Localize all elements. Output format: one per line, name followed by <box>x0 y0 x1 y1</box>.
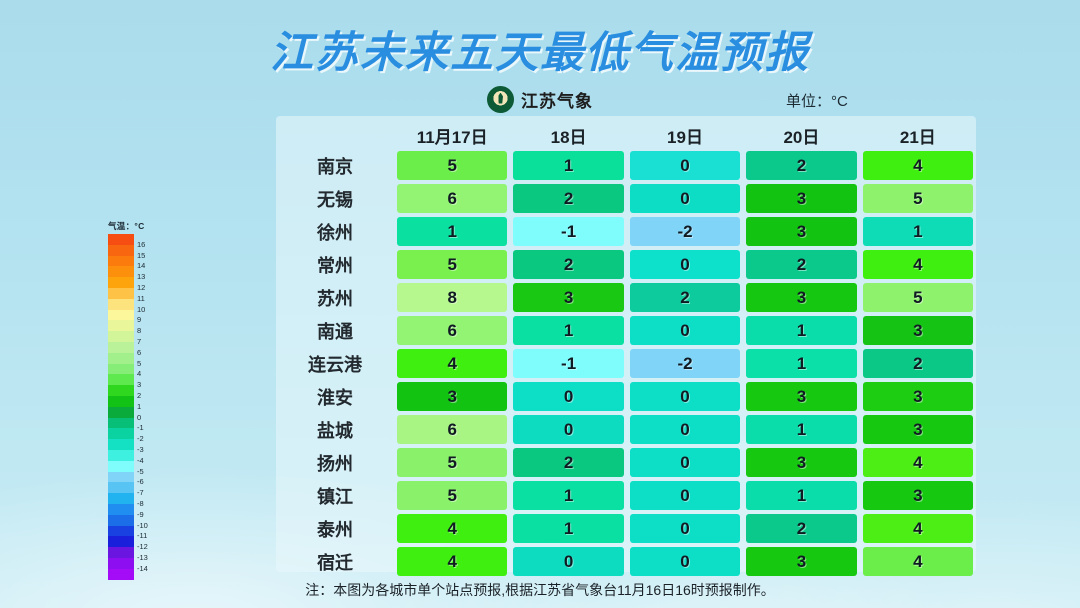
temperature-cell: 0 <box>513 547 623 576</box>
city-label: 徐州 <box>276 219 394 245</box>
temperature-cell: 3 <box>746 448 856 477</box>
legend-swatch <box>108 331 134 342</box>
temperature-cell: 4 <box>863 514 973 543</box>
temperature-cell: -2 <box>630 217 740 246</box>
temperature-cell: 1 <box>513 151 623 180</box>
temperature-cell: 3 <box>863 316 973 345</box>
legend-swatch <box>108 558 134 569</box>
legend-tick-label: 14 <box>137 262 145 270</box>
table-row: 扬州52034 <box>276 447 976 478</box>
legend-swatch <box>108 439 134 450</box>
table-row: 泰州41024 <box>276 513 976 544</box>
temperature-cell: 1 <box>746 349 856 378</box>
page-title: 江苏未来五天最低气温预报 <box>0 18 1080 80</box>
legend-tick-label: 8 <box>137 327 141 335</box>
temperature-cell: 5 <box>397 481 507 510</box>
temperature-cell: 5 <box>397 250 507 279</box>
temperature-cell: 0 <box>630 514 740 543</box>
legend-swatch <box>108 526 134 537</box>
legend-tick-label: -5 <box>137 468 144 476</box>
date-header-2: 19日 <box>627 123 743 148</box>
table-row: 宿迁40034 <box>276 546 976 577</box>
legend-swatch <box>108 493 134 504</box>
temperature-cell: -2 <box>630 349 740 378</box>
table-row: 盐城60013 <box>276 414 976 445</box>
temperature-cell: 0 <box>630 382 740 411</box>
date-header-0: 11月17日 <box>394 123 510 148</box>
legend-swatch <box>108 353 134 364</box>
temperature-cell: 3 <box>746 382 856 411</box>
jiangsu-meteorology-emblem-icon <box>487 86 514 113</box>
temperature-cell: 6 <box>397 415 507 444</box>
temperature-cell: 0 <box>630 415 740 444</box>
temperature-cell: 0 <box>513 382 623 411</box>
legend-tick-label: 5 <box>137 360 141 368</box>
legend-tick-label: -9 <box>137 511 144 519</box>
date-header-1: 18日 <box>510 123 626 148</box>
temperature-cell: 3 <box>513 283 623 312</box>
city-label: 镇江 <box>276 483 394 509</box>
temperature-cell: 1 <box>863 217 973 246</box>
temperature-cell: 2 <box>746 250 856 279</box>
temperature-cell: 5 <box>397 448 507 477</box>
table-header-row: 11月17日 18日 19日 20日 21日 <box>276 121 976 149</box>
table-row: 淮安30033 <box>276 381 976 412</box>
legend-swatch <box>108 256 134 267</box>
table-row: 镇江51013 <box>276 480 976 511</box>
legend-swatch <box>108 320 134 331</box>
legend-swatch <box>108 277 134 288</box>
legend-tick-label: 9 <box>137 316 141 324</box>
temperature-cell: 0 <box>630 547 740 576</box>
temperature-cell: 4 <box>863 250 973 279</box>
legend-tick-label: 16 <box>137 241 145 249</box>
brand-name: 江苏气象 <box>521 87 593 112</box>
legend-swatch <box>108 418 134 429</box>
temperature-cell: 2 <box>513 184 623 213</box>
temperature-cell: 0 <box>513 415 623 444</box>
legend-tick-label: 10 <box>137 306 145 314</box>
legend-swatch-strip: 161514131211109876543210-1-2-3-4-5-6-7-8… <box>108 234 134 580</box>
infographic-canvas: 江苏未来五天最低气温预报 江苏气象 单位：°C 11月17日 18日 19日 2… <box>0 0 1080 608</box>
legend-tick-label: 6 <box>137 349 141 357</box>
legend-tick-label: -11 <box>137 532 147 540</box>
legend-tick-label: 7 <box>137 338 141 346</box>
legend-swatch <box>108 504 134 515</box>
legend-tick-label: -4 <box>137 457 144 465</box>
temperature-cell: 0 <box>630 481 740 510</box>
legend-swatch <box>108 299 134 310</box>
date-header-3: 20日 <box>743 123 859 148</box>
legend-tick-label: -3 <box>137 446 144 454</box>
legend-tick-label: 1 <box>137 403 141 411</box>
city-label: 无锡 <box>276 186 394 212</box>
temperature-cell: 4 <box>397 514 507 543</box>
unit-label: 单位：°C <box>786 90 848 111</box>
temperature-cell: 0 <box>630 448 740 477</box>
city-label: 常州 <box>276 252 394 278</box>
temperature-cell: 2 <box>746 151 856 180</box>
temperature-cell: 8 <box>397 283 507 312</box>
legend-swatch <box>108 374 134 385</box>
temperature-cell: 1 <box>746 415 856 444</box>
table-row: 无锡62035 <box>276 183 976 214</box>
temperature-cell: 5 <box>863 184 973 213</box>
legend-tick-label: -10 <box>137 522 148 530</box>
legend-tick-labels: 161514131211109876543210-1-2-3-4-5-6-7-8… <box>137 234 159 580</box>
temperature-cell: 6 <box>397 316 507 345</box>
table-row: 南通61013 <box>276 315 976 346</box>
temperature-cell: 3 <box>746 184 856 213</box>
table-row: 苏州83235 <box>276 282 976 313</box>
table-row: 常州52024 <box>276 249 976 280</box>
legend-tick-label: -14 <box>137 565 148 573</box>
legend-swatch <box>108 288 134 299</box>
date-header-4: 21日 <box>860 123 976 148</box>
legend-swatch <box>108 569 134 580</box>
temperature-cell: 2 <box>513 448 623 477</box>
legend-tick-label: 3 <box>137 381 141 389</box>
legend-swatch <box>108 342 134 353</box>
temperature-cell: 1 <box>397 217 507 246</box>
city-label: 淮安 <box>276 384 394 410</box>
legend-swatch <box>108 482 134 493</box>
temperature-cell: 5 <box>397 151 507 180</box>
legend-swatch <box>108 407 134 418</box>
city-label: 扬州 <box>276 450 394 476</box>
temperature-cell: 1 <box>746 481 856 510</box>
legend-swatch <box>108 450 134 461</box>
temperature-cell: 0 <box>630 316 740 345</box>
temperature-cell: 1 <box>513 514 623 543</box>
temperature-cell: -1 <box>513 349 623 378</box>
legend-tick-label: -7 <box>137 489 144 497</box>
legend-swatch <box>108 547 134 558</box>
table-row: 南京51024 <box>276 150 976 181</box>
temperature-cell: 1 <box>513 316 623 345</box>
legend-tick-label: -1 <box>137 424 144 432</box>
legend-swatch <box>108 428 134 439</box>
legend-swatch <box>108 234 134 245</box>
temperature-cell: 0 <box>630 151 740 180</box>
temperature-cell: 4 <box>863 547 973 576</box>
city-label: 泰州 <box>276 516 394 542</box>
temperature-grid: 南京51024无锡62035徐州1-1-231常州52024苏州83235南通6… <box>276 150 976 579</box>
temperature-cell: 3 <box>746 283 856 312</box>
temperature-cell: 3 <box>863 481 973 510</box>
legend-swatch <box>108 385 134 396</box>
footer-note: 注：本图为各城市单个站点预报,根据江苏省气象台11月16日16时预报制作。 <box>0 580 1080 600</box>
temperature-cell: 4 <box>397 547 507 576</box>
legend-title: 气温：°C <box>108 220 160 232</box>
legend-tick-label: -12 <box>137 543 148 551</box>
legend-swatch <box>108 396 134 407</box>
brand-logo: 江苏气象 <box>0 86 1080 113</box>
legend-tick-label: -6 <box>137 478 144 486</box>
temperature-cell: 2 <box>630 283 740 312</box>
temperature-cell: 3 <box>397 382 507 411</box>
temperature-cell: 2 <box>863 349 973 378</box>
legend-swatch <box>108 536 134 547</box>
legend-tick-label: 0 <box>137 414 141 422</box>
legend-tick-label: 12 <box>137 284 145 292</box>
legend-swatch <box>108 364 134 375</box>
city-label: 南通 <box>276 318 394 344</box>
legend-swatch <box>108 310 134 321</box>
city-label: 连云港 <box>276 351 394 377</box>
temperature-cell: 5 <box>863 283 973 312</box>
temperature-cell: 3 <box>746 217 856 246</box>
temperature-cell: 6 <box>397 184 507 213</box>
table-row: 徐州1-1-231 <box>276 216 976 247</box>
temperature-cell: 3 <box>863 415 973 444</box>
temperature-cell: 0 <box>630 184 740 213</box>
city-label: 苏州 <box>276 285 394 311</box>
temperature-cell: 3 <box>746 547 856 576</box>
temperature-cell: 0 <box>630 250 740 279</box>
color-legend: 气温：°C 161514131211109876543210-1-2-3-4-5… <box>108 220 160 580</box>
legend-swatch <box>108 515 134 526</box>
legend-swatch <box>108 266 134 277</box>
legend-tick-label: -2 <box>137 435 144 443</box>
temperature-cell: 2 <box>746 514 856 543</box>
legend-tick-label: 11 <box>137 295 145 303</box>
temperature-cell: 4 <box>863 151 973 180</box>
temperature-cell: 1 <box>746 316 856 345</box>
temperature-cell: -1 <box>513 217 623 246</box>
temperature-cell: 2 <box>513 250 623 279</box>
legend-tick-label: -13 <box>137 554 148 562</box>
temperature-cell: 1 <box>513 481 623 510</box>
temperature-cell: 4 <box>863 448 973 477</box>
city-label: 南京 <box>276 153 394 179</box>
temperature-cell: 4 <box>397 349 507 378</box>
legend-tick-label: -8 <box>137 500 144 508</box>
legend-tick-label: 4 <box>137 370 141 378</box>
city-label: 盐城 <box>276 417 394 443</box>
table-row: 连云港4-1-212 <box>276 348 976 379</box>
city-label: 宿迁 <box>276 549 394 575</box>
legend-tick-label: 15 <box>137 252 145 260</box>
legend-swatch <box>108 245 134 256</box>
legend-swatch <box>108 461 134 472</box>
legend-swatch <box>108 472 134 483</box>
legend-tick-label: 13 <box>137 273 145 281</box>
legend-tick-label: 2 <box>137 392 141 400</box>
temperature-cell: 3 <box>863 382 973 411</box>
